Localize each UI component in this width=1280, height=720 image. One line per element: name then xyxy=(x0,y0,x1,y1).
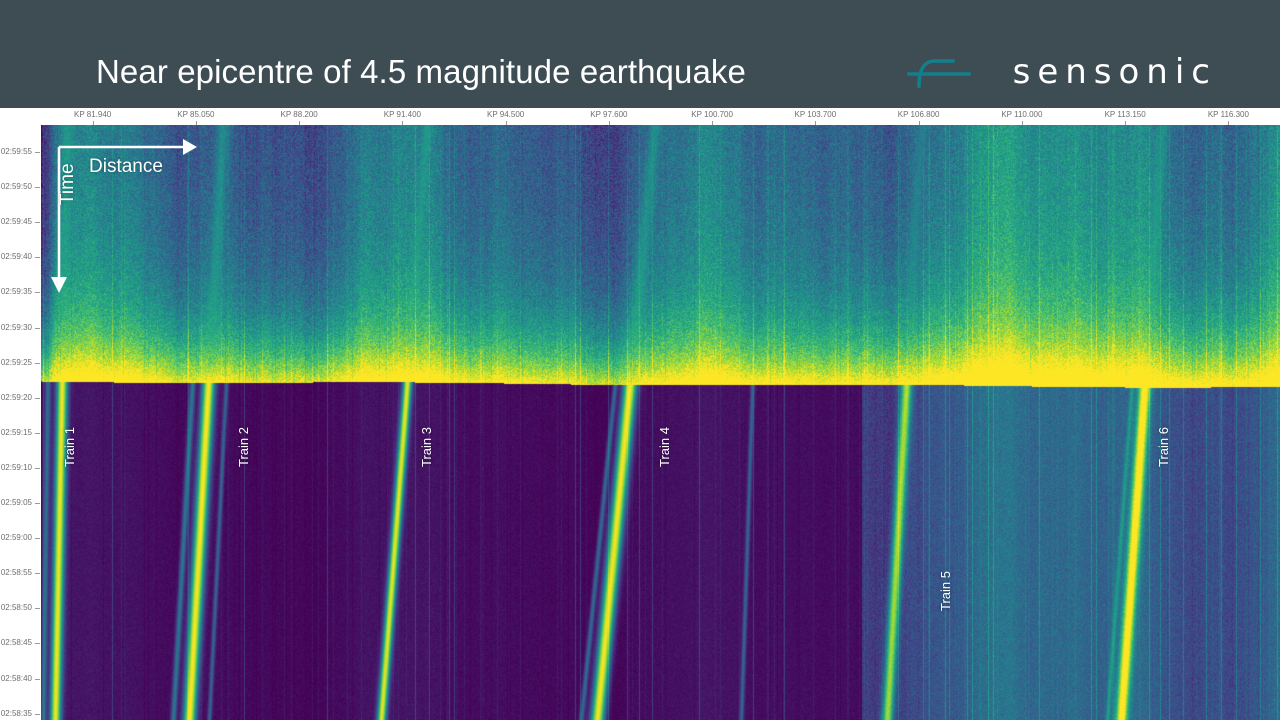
brand-logo: sensonic xyxy=(907,52,1217,92)
slide-header: Near epicentre of 4.5 magnitude earthqua… xyxy=(0,0,1280,108)
distance-tick-label: KP 116.300 xyxy=(1208,110,1249,120)
time-tick-mark xyxy=(35,433,40,434)
time-tick-label: 02:59:55 xyxy=(1,147,32,157)
time-tick-mark xyxy=(35,503,40,504)
time-tick-label: 02:59:40 xyxy=(1,252,32,262)
spectrogram-canvas xyxy=(41,125,1280,720)
brand-wordmark: sensonic xyxy=(1013,55,1217,89)
time-tick-mark xyxy=(35,398,40,399)
distance-tick-label: KP 88.200 xyxy=(281,110,318,120)
distance-tick-label: KP 106.800 xyxy=(898,110,940,120)
time-tick-label: 02:59:45 xyxy=(1,217,32,227)
time-tick-label: 02:58:35 xyxy=(1,709,32,719)
time-tick-mark xyxy=(35,679,40,680)
distance-tick-label: KP 100.700 xyxy=(691,110,733,120)
time-tick-mark xyxy=(35,152,40,153)
time-tick-label: 02:59:25 xyxy=(1,358,32,368)
distance-axis: KP 81.940KP 85.050KP 88.200KP 91.400KP 9… xyxy=(0,108,1280,125)
distance-tick-label: KP 113.150 xyxy=(1105,110,1146,120)
waterfall-spectrogram[interactable]: Distance Time Train 1Train 2Train 3Train… xyxy=(41,125,1280,720)
distance-tick-label: KP 97.600 xyxy=(590,110,627,120)
time-tick-label: 02:59:05 xyxy=(1,498,32,508)
time-tick-mark xyxy=(35,538,40,539)
time-tick-mark xyxy=(35,468,40,469)
time-axis: 02:59:5502:59:5002:59:4502:59:4002:59:35… xyxy=(0,125,41,720)
time-tick-mark xyxy=(35,363,40,364)
time-tick-label: 02:59:20 xyxy=(1,393,32,403)
distance-tick-label: KP 81.940 xyxy=(74,110,111,120)
sensonic-f-mark-icon xyxy=(907,56,991,88)
time-tick-mark xyxy=(35,714,40,715)
time-tick-mark xyxy=(35,187,40,188)
time-tick-label: 02:59:15 xyxy=(1,428,32,438)
time-tick-mark xyxy=(35,292,40,293)
time-tick-mark xyxy=(35,643,40,644)
time-tick-mark xyxy=(35,222,40,223)
time-tick-mark xyxy=(35,608,40,609)
time-tick-label: 02:59:50 xyxy=(1,182,32,192)
distance-tick-label: KP 85.050 xyxy=(177,110,214,120)
time-tick-label: 02:58:50 xyxy=(1,603,32,613)
time-tick-label: 02:58:45 xyxy=(1,638,32,648)
page-title: Near epicentre of 4.5 magnitude earthqua… xyxy=(96,55,746,88)
distance-tick-label: KP 110.000 xyxy=(1001,110,1042,120)
time-tick-label: 02:59:30 xyxy=(1,323,32,333)
time-tick-label: 02:59:00 xyxy=(1,533,32,543)
time-tick-mark xyxy=(35,328,40,329)
distance-tick-label: KP 91.400 xyxy=(384,110,421,120)
distance-tick-label: KP 94.500 xyxy=(487,110,524,120)
time-tick-label: 02:59:35 xyxy=(1,287,32,297)
distance-tick-label: KP 103.700 xyxy=(795,110,837,120)
slide-root: Near epicentre of 4.5 magnitude earthqua… xyxy=(0,0,1280,720)
time-tick-mark xyxy=(35,257,40,258)
time-tick-label: 02:58:40 xyxy=(1,674,32,684)
time-tick-label: 02:58:55 xyxy=(1,568,32,578)
time-tick-label: 02:59:10 xyxy=(1,463,32,473)
time-tick-mark xyxy=(35,573,40,574)
